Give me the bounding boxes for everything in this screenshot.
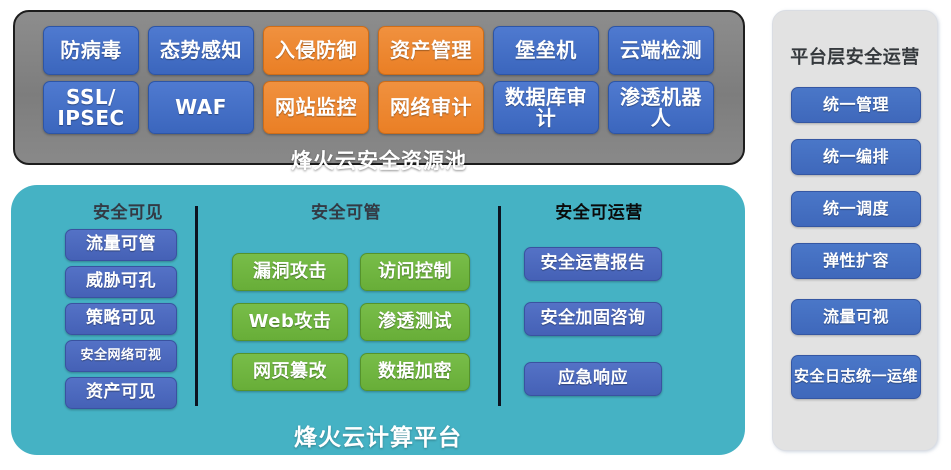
column-header-security-visible: 安全可见 (63, 198, 193, 223)
cloud-panel-title: 烽火云计算平台 (11, 418, 745, 452)
security-resource-pool-panel: 防病毒 态势感知 入侵防御 资产管理 堡垒机 云端检测 SSL/ IPSEC W… (13, 10, 745, 165)
column-header-security-operable: 安全可运营 (524, 198, 674, 223)
pool-chip-website-monitoring[interactable]: 网站监控 (263, 81, 369, 134)
manage-chip-vulnerability-attack[interactable]: 漏洞攻击 (232, 253, 348, 291)
pool-chip-database-audit[interactable]: 数据库审计 (493, 81, 599, 134)
ops-chip-security-operation-report[interactable]: 安全运营报告 (524, 247, 662, 281)
pool-chip-network-audit[interactable]: 网络审计 (378, 81, 484, 134)
column-divider-left (195, 206, 198, 406)
pool-chip-ssl-ipsec[interactable]: SSL/ IPSEC (43, 81, 139, 134)
platform-chip-unified-scheduling[interactable]: 统一调度 (791, 191, 921, 227)
pool-chip-cloud-detection[interactable]: 云端检测 (608, 26, 714, 75)
platform-chip-elastic-scaling[interactable]: 弹性扩容 (791, 243, 921, 279)
platform-security-operation-panel: 平台层安全运营 统一管理 统一编排 统一调度 弹性扩容 流量可视 安全日志统一运… (772, 10, 938, 451)
visibility-chip-threat[interactable]: 威胁可孔 (65, 266, 177, 298)
pool-chip-antivirus[interactable]: 防病毒 (43, 26, 139, 75)
column-header-security-manageable: 安全可管 (256, 198, 436, 223)
ops-chip-hardening-consulting[interactable]: 安全加固咨询 (524, 302, 662, 336)
manage-chip-web-attack[interactable]: Web攻击 (232, 303, 348, 341)
visibility-chip-asset[interactable]: 资产可见 (65, 377, 177, 409)
manage-chip-web-tampering[interactable]: 网页篡改 (232, 353, 348, 391)
visibility-chip-policy[interactable]: 策略可见 (65, 303, 177, 335)
platform-chip-traffic-visibility[interactable]: 流量可视 (791, 299, 921, 335)
pool-chip-asset-management[interactable]: 资产管理 (378, 26, 484, 75)
platform-chip-unified-management[interactable]: 统一管理 (791, 87, 921, 123)
visibility-chip-secure-network[interactable]: 安全网络可视 (65, 340, 177, 372)
column-divider-right (498, 206, 501, 406)
manage-chip-penetration-test[interactable]: 渗透测试 (360, 303, 470, 341)
platform-chip-unified-orchestration[interactable]: 统一编排 (791, 139, 921, 175)
cloud-computing-platform-panel: 安全可见 安全可管 安全可运营 流量可管 威胁可孔 策略可见 安全网络可视 资产… (11, 185, 745, 455)
pool-chip-bastion-host[interactable]: 堡垒机 (493, 26, 599, 75)
pool-chip-penetration-robot[interactable]: 渗透机器人 (608, 81, 714, 134)
pool-chip-waf[interactable]: WAF (148, 81, 254, 134)
platform-chip-security-log-ops[interactable]: 安全日志统一运维 (791, 355, 921, 399)
manage-chip-data-encryption[interactable]: 数据加密 (360, 353, 470, 391)
ops-chip-emergency-response[interactable]: 应急响应 (524, 362, 662, 396)
pool-chip-situation-awareness[interactable]: 态势感知 (148, 26, 254, 75)
pool-chip-intrusion-prevention[interactable]: 入侵防御 (263, 26, 369, 75)
visibility-chip-traffic[interactable]: 流量可管 (65, 229, 177, 261)
platform-panel-title: 平台层安全运营 (773, 43, 937, 69)
manage-chip-access-control[interactable]: 访问控制 (360, 253, 470, 291)
pool-panel-title: 烽火云安全资源池 (15, 145, 743, 175)
